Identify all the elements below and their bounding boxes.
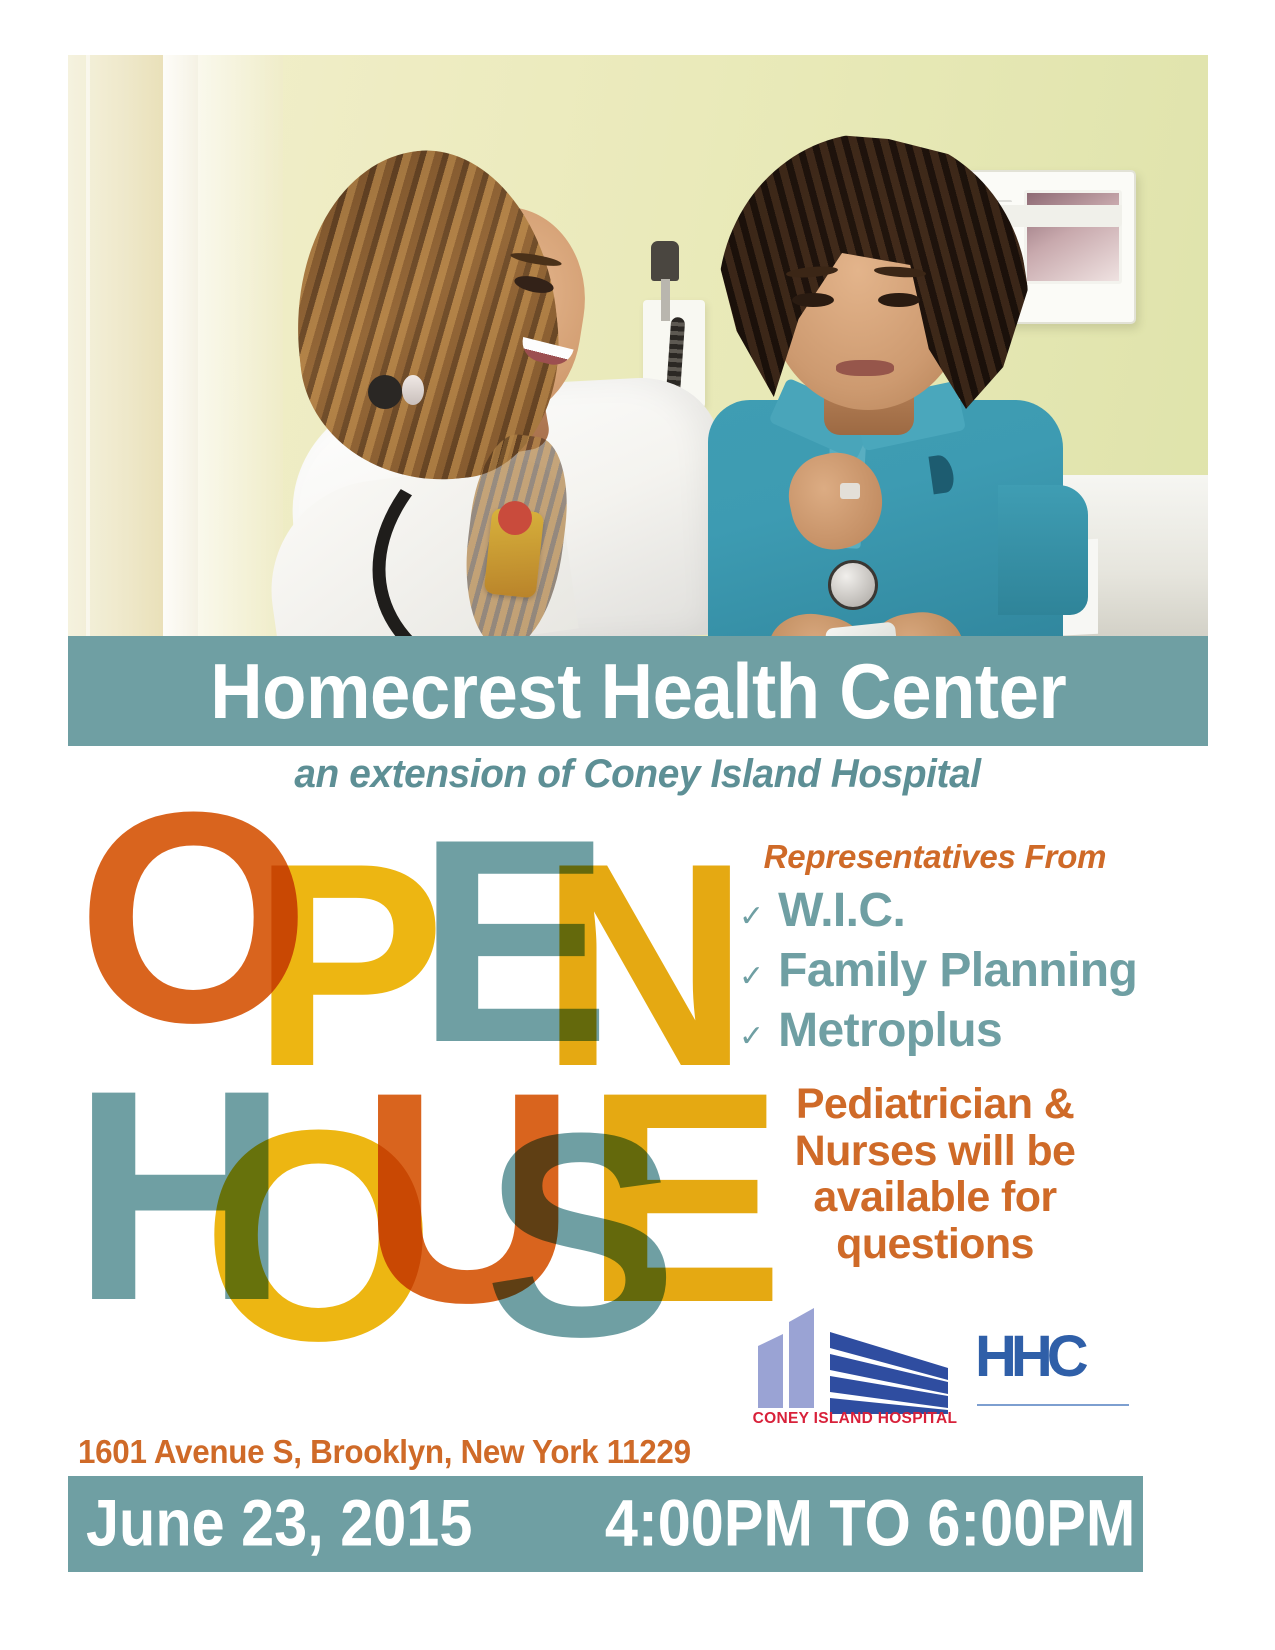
availability-note: Pediatrician & Nurses will be available … bbox=[725, 1081, 1145, 1267]
otoscope-head-icon bbox=[651, 241, 679, 281]
footer-banner: June 23, 2015 4:00PM TO 6:00PM bbox=[68, 1476, 1143, 1572]
tower-bar bbox=[758, 1346, 783, 1408]
flyer-page: Homecrest Health Center an extension of … bbox=[0, 0, 1275, 1650]
checkmark-icon: ✓ bbox=[739, 902, 764, 932]
event-time: 4:00PM TO 6:00PM bbox=[605, 1490, 1135, 1556]
title-banner: Homecrest Health Center bbox=[68, 636, 1208, 746]
representatives-list: ✓ W.I.C. ✓ Family Planning ✓ Metroplus bbox=[725, 884, 1145, 1057]
hhc-logo: HHC bbox=[975, 1328, 1140, 1414]
hospital-towers-icon bbox=[758, 1322, 828, 1408]
child-eye-left bbox=[792, 293, 834, 307]
representative-label: W.I.C. bbox=[778, 884, 905, 938]
stethoscope-earpiece bbox=[368, 375, 402, 409]
details-column: Representatives From ✓ W.I.C. ✓ Family P… bbox=[725, 838, 1145, 1267]
doctor-badge-charm-dot bbox=[498, 501, 532, 535]
hero-photo bbox=[68, 55, 1208, 640]
event-date: June 23, 2015 bbox=[86, 1490, 472, 1556]
list-item: ✓ W.I.C. bbox=[739, 884, 1145, 938]
stethoscope-chestpiece bbox=[828, 560, 878, 610]
hhc-wordmark: HHC bbox=[975, 1328, 1140, 1386]
logo-row: CONEY ISLAND HOSPITAL HHC bbox=[735, 1300, 1155, 1440]
checkmark-icon: ✓ bbox=[739, 962, 764, 992]
tower-bar bbox=[789, 1322, 814, 1408]
representative-label: Metroplus bbox=[778, 1004, 1002, 1058]
doctor-earring bbox=[402, 375, 424, 405]
child-eye-right bbox=[878, 293, 920, 307]
list-item: ✓ Family Planning bbox=[739, 944, 1145, 998]
coney-island-hospital-name: CONEY ISLAND HOSPITAL bbox=[750, 1410, 960, 1428]
list-item: ✓ Metroplus bbox=[739, 1004, 1145, 1058]
checkmark-icon: ✓ bbox=[739, 1022, 764, 1052]
child-shirt-sleeve bbox=[998, 485, 1088, 615]
child-mouth bbox=[836, 360, 894, 376]
curtain-panel bbox=[163, 55, 283, 640]
hospital-stripes-icon bbox=[830, 1324, 952, 1414]
page-title: Homecrest Health Center bbox=[210, 652, 1066, 730]
doctor-ring bbox=[840, 483, 860, 499]
coney-island-hospital-logo: CONEY ISLAND HOSPITAL bbox=[750, 1312, 960, 1430]
representatives-heading: Representatives From bbox=[725, 838, 1145, 876]
address-line: 1601 Avenue S, Brooklyn, New York 11229 bbox=[78, 1433, 691, 1471]
representative-label: Family Planning bbox=[778, 944, 1137, 998]
otoscope-neck bbox=[661, 279, 670, 321]
hhc-underline bbox=[977, 1404, 1129, 1406]
open-house-wordmark: O P E N H O U S E bbox=[72, 800, 732, 1400]
